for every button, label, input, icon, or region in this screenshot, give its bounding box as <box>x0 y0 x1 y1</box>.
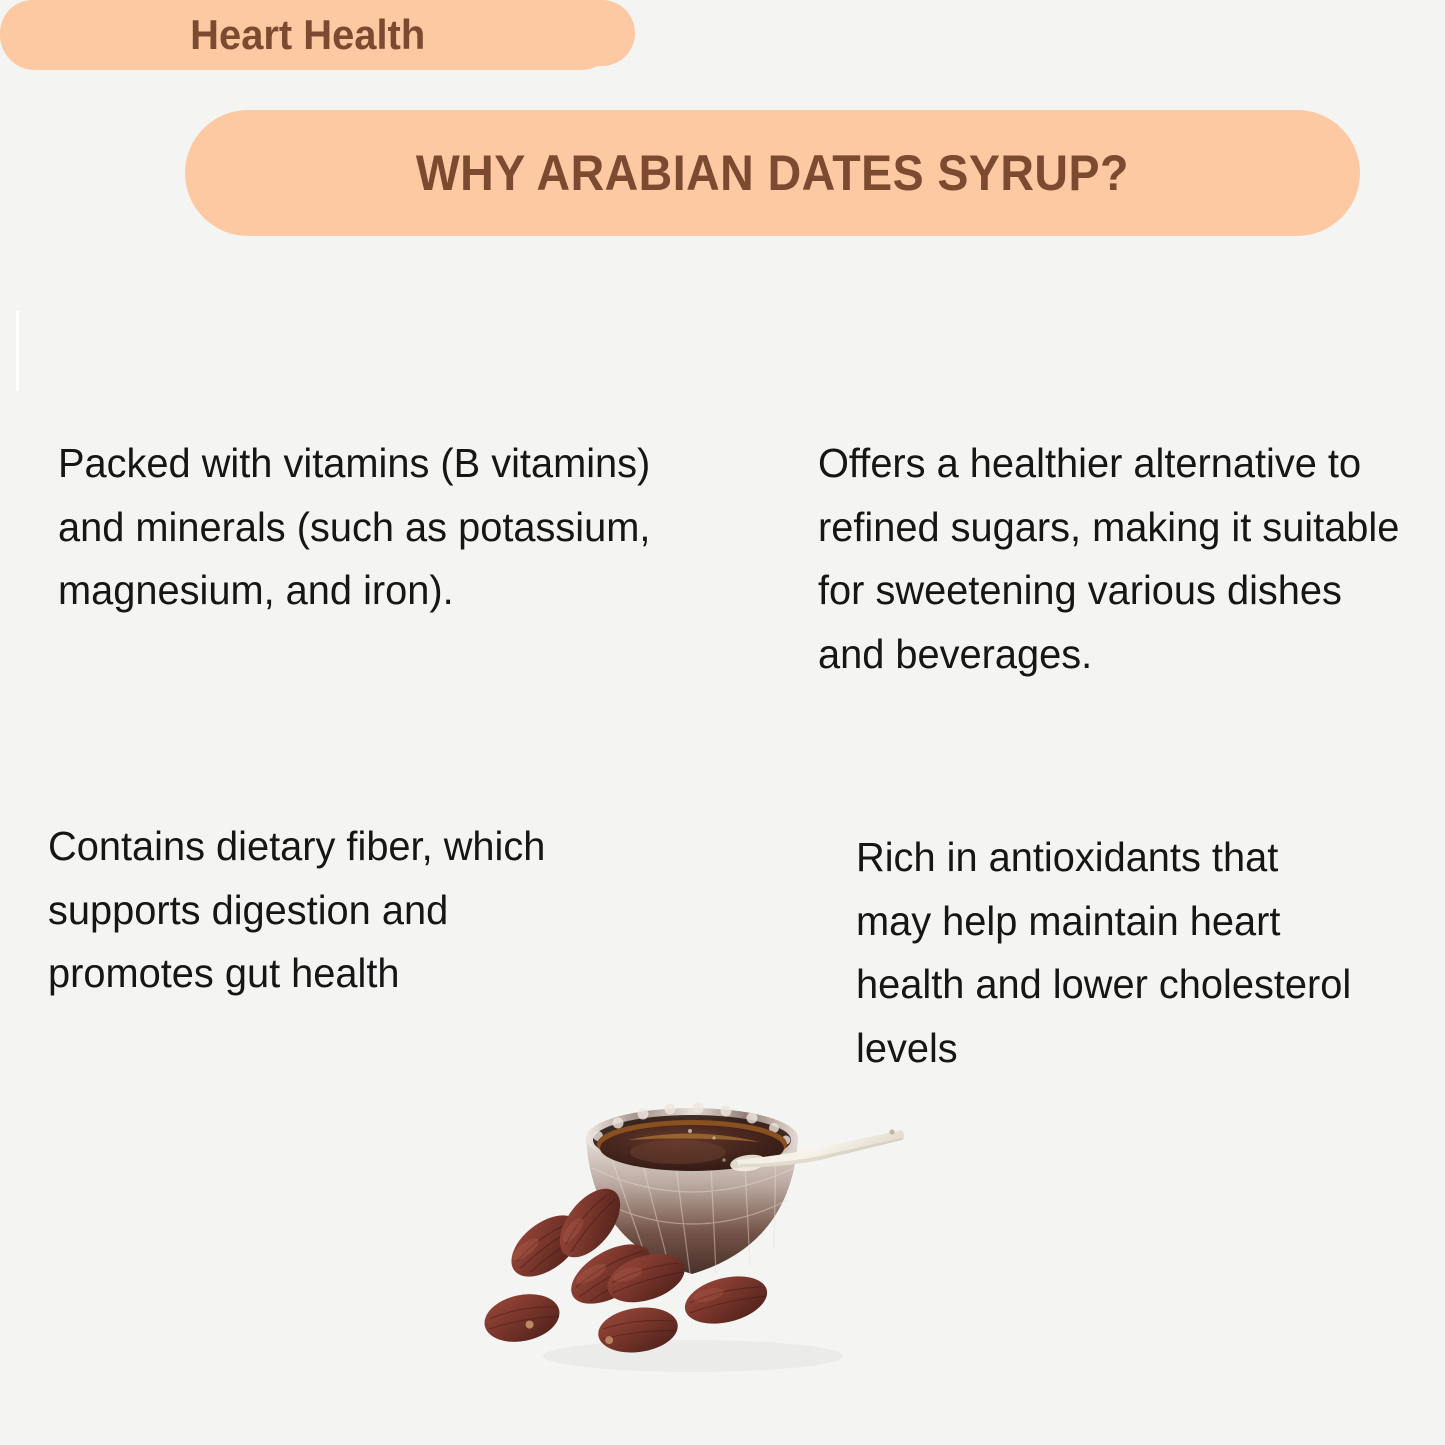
body-text-nutrients: Packed with vitamins (B vitamins) and mi… <box>58 432 679 623</box>
heading-label-heart: Heart Health <box>190 11 425 59</box>
title-banner: WHY ARABIAN DATES SYRUP? <box>185 110 1360 236</box>
heading-pill-heart: Heart Health <box>0 0 616 70</box>
body-text-digestive: Contains dietary fiber, which supports d… <box>48 815 611 1006</box>
edge-artifact-stripe <box>16 311 19 391</box>
feature-card-heart: Heart Health Rich in antioxidants that m… <box>0 0 616 70</box>
infographic-canvas: WHY ARABIAN DATES SYRUP? Rich in Nutrien… <box>0 0 1445 1445</box>
page-title: WHY ARABIAN DATES SYRUP? <box>416 144 1129 202</box>
body-text-sweetener: Offers a healthier alternative to refine… <box>818 432 1410 686</box>
body-text-heart: Rich in antioxidants that may help maint… <box>856 826 1360 1080</box>
dates-syrup-bowl-photo <box>478 1068 906 1388</box>
